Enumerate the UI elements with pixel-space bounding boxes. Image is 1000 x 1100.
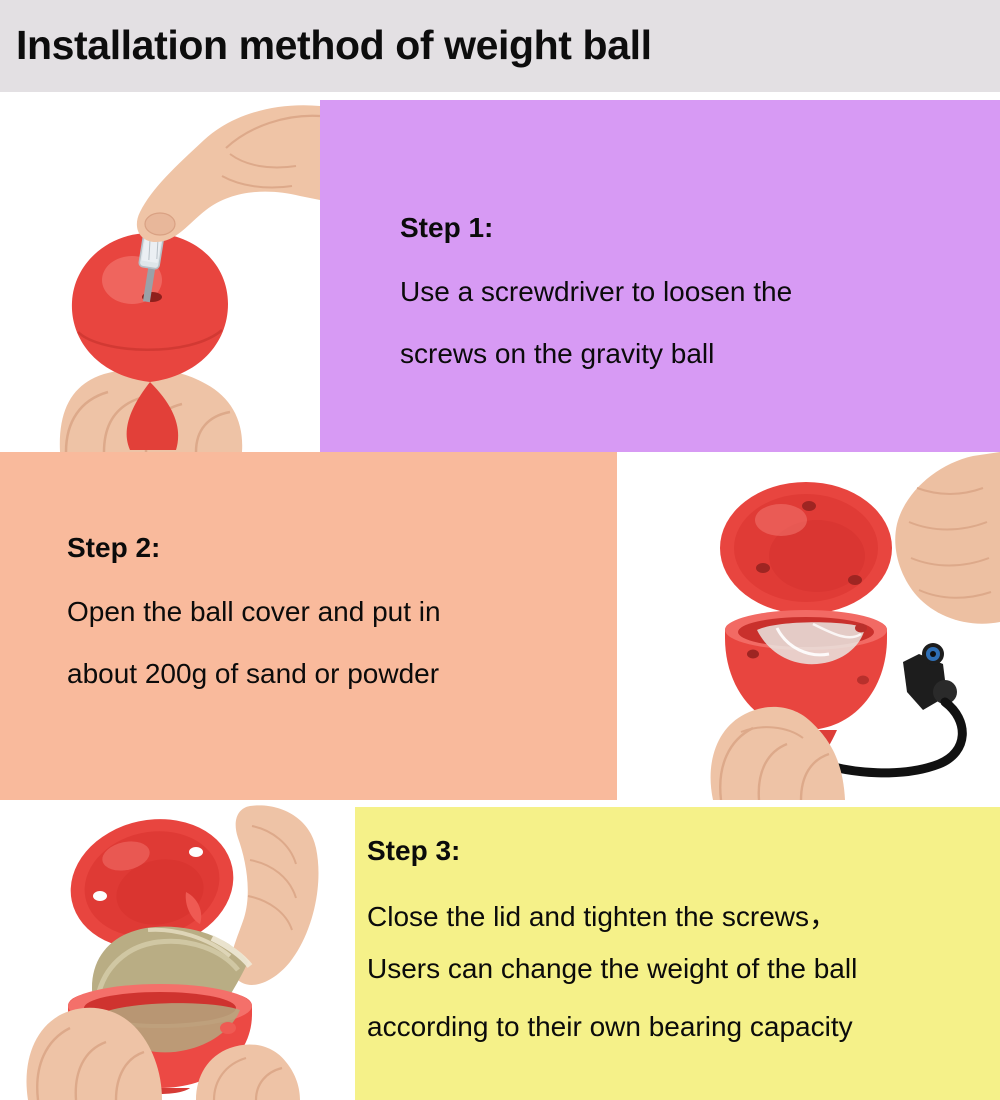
step-3-heading: Step 3: bbox=[367, 835, 460, 867]
step-1-photo bbox=[0, 92, 320, 452]
sand-bag-in-ball-illustration bbox=[0, 800, 355, 1100]
header-banner: Installation method of weight ball bbox=[0, 0, 1000, 92]
step-2-text-panel: Step 2: Open the ball cover and put in a… bbox=[0, 452, 617, 800]
opened-ball-illustration bbox=[617, 452, 1000, 800]
ball-lid-shape bbox=[720, 482, 892, 614]
step-3-line-1: Close the lid and tighten the screws， bbox=[367, 895, 837, 935]
step-2-heading: Step 2: bbox=[67, 532, 160, 564]
step-2-line-2: about 200g of sand or powder bbox=[67, 658, 439, 690]
step-2-line-1: Open the ball cover and put in bbox=[67, 596, 441, 628]
step-3-line-2: Users can change the weight of the ball bbox=[367, 953, 857, 985]
step-1-line-2: screws on the gravity ball bbox=[400, 338, 714, 370]
infographic-page: Installation method of weight ball bbox=[0, 0, 1000, 1100]
page-title: Installation method of weight ball bbox=[16, 22, 652, 69]
screwdriver-ball-illustration bbox=[0, 92, 320, 452]
step-3-line-3: according to their own bearing capacity bbox=[367, 1011, 853, 1043]
step-3-photo bbox=[0, 800, 355, 1100]
step-1-heading: Step 1: bbox=[400, 212, 493, 244]
step-1-line-1: Use a screwdriver to loosen the bbox=[400, 276, 792, 308]
step-2-photo bbox=[617, 452, 1000, 800]
step-1-text-panel: Step 1: Use a screwdriver to loosen the … bbox=[320, 100, 1000, 452]
step-3-text-panel: Step 3: Close the lid and tighten the sc… bbox=[355, 807, 1000, 1100]
